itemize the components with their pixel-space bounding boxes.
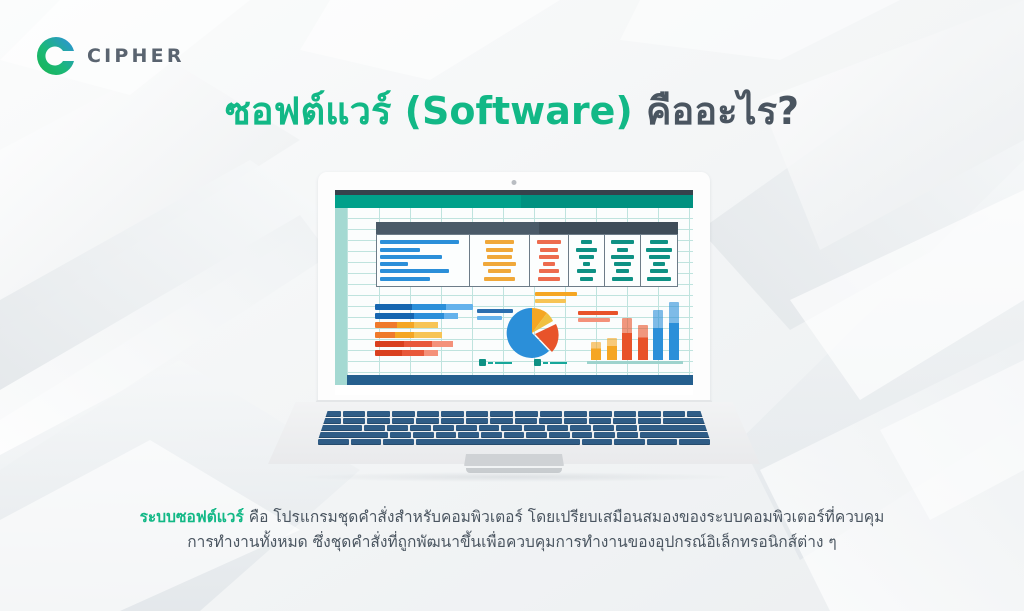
keyboard-key[interactable] xyxy=(663,411,686,417)
bar xyxy=(375,313,473,319)
screen-statusbar xyxy=(347,375,693,385)
keyboard-key[interactable] xyxy=(582,439,613,445)
keyboard-row xyxy=(316,411,712,417)
table-cell xyxy=(646,248,672,252)
bar-segment xyxy=(375,313,414,319)
keyboard-key[interactable] xyxy=(466,411,489,417)
bar-segment xyxy=(424,350,438,356)
keyboard-key[interactable] xyxy=(364,425,385,431)
table-cell xyxy=(614,262,631,266)
table-cell xyxy=(616,269,630,273)
table-cell xyxy=(484,277,515,281)
table-cell xyxy=(611,255,633,259)
table-cell xyxy=(581,240,592,244)
keyboard-key[interactable] xyxy=(392,418,415,424)
laptop-screen xyxy=(335,190,693,395)
keyboard-key[interactable] xyxy=(387,425,408,431)
bar xyxy=(375,350,473,356)
keyboard-row xyxy=(316,425,712,431)
keyboard-key[interactable] xyxy=(638,418,661,424)
cipher-c-logo-icon xyxy=(34,34,78,78)
table-header-row xyxy=(376,222,678,234)
table-cell xyxy=(653,262,664,266)
table-cell xyxy=(483,262,516,266)
bar-segment xyxy=(375,322,397,328)
legend-line-darkblue xyxy=(477,309,513,313)
keyboard-key[interactable] xyxy=(570,425,591,431)
table-cell xyxy=(488,269,510,273)
bar-segment xyxy=(414,332,441,338)
bar xyxy=(622,318,632,360)
table-column xyxy=(530,235,569,286)
table-cell xyxy=(540,248,558,252)
keyboard-key[interactable] xyxy=(639,425,710,431)
bar-segment xyxy=(375,304,412,310)
table-cell xyxy=(580,277,593,281)
table-cell xyxy=(486,248,514,252)
keyboard-key[interactable] xyxy=(479,425,500,431)
table-cell xyxy=(380,248,420,252)
horizontal-bar-chart xyxy=(375,304,473,356)
keyboard-key[interactable] xyxy=(481,432,502,438)
keyboard-key[interactable] xyxy=(614,411,637,417)
page-title-green: ซอฟต์แวร์ (Software) xyxy=(225,89,646,133)
table-cell xyxy=(577,269,596,273)
keyboard-key[interactable] xyxy=(416,439,580,445)
keyboard-key[interactable] xyxy=(564,411,587,417)
table-cell xyxy=(487,255,512,259)
table-cell xyxy=(543,262,556,266)
table-column xyxy=(605,235,641,286)
table-cell xyxy=(380,269,449,273)
keyboard-key[interactable] xyxy=(441,411,464,417)
keyboard-key[interactable] xyxy=(663,418,710,424)
bar-segment xyxy=(375,350,402,356)
keyboard-key[interactable] xyxy=(614,439,645,445)
keyboard-key[interactable] xyxy=(367,418,390,424)
keyboard-key[interactable] xyxy=(515,418,538,424)
keyboard-key[interactable] xyxy=(416,418,439,424)
keyboard-key[interactable] xyxy=(501,425,522,431)
bar-segment xyxy=(395,332,415,338)
table-cell xyxy=(612,277,632,281)
keyboard-row xyxy=(316,432,712,438)
table-cell xyxy=(576,248,597,252)
bar xyxy=(375,332,473,338)
legend-line-orange xyxy=(535,292,577,296)
keyboard-key[interactable] xyxy=(549,432,570,438)
vertical-bar-chart xyxy=(587,292,683,364)
table-cell xyxy=(647,277,671,281)
legend-label-bar xyxy=(495,362,512,364)
bar xyxy=(669,302,679,360)
table-body xyxy=(376,234,678,287)
chart-baseline xyxy=(587,361,683,364)
bar xyxy=(607,338,617,360)
caption-line1: คือ โปรแกรมชุดคำสั่งสำหรับคอมพิวเตอร์ โด… xyxy=(244,508,885,526)
keyboard-key[interactable] xyxy=(367,411,390,417)
bar-segment xyxy=(402,350,424,356)
legend-dash-icon xyxy=(488,362,493,364)
keyboard-key[interactable] xyxy=(410,425,431,431)
row-header-strip xyxy=(335,208,347,385)
keyboard-key[interactable] xyxy=(351,439,382,445)
table-column xyxy=(569,235,605,286)
keyboard-key[interactable] xyxy=(613,418,636,424)
keyboard-key[interactable] xyxy=(617,432,638,438)
table-cell xyxy=(485,240,514,244)
legend-line-lightblue xyxy=(477,316,502,320)
keyboard-key[interactable] xyxy=(413,432,434,438)
table-cell xyxy=(650,269,667,273)
keyboard-key[interactable] xyxy=(343,418,366,424)
chart-legend xyxy=(479,359,567,366)
table-cell xyxy=(380,240,459,244)
keyboard-key[interactable] xyxy=(490,418,513,424)
keyboard-key[interactable] xyxy=(589,411,612,417)
legend-swatch-icon xyxy=(479,359,486,366)
keyboard-key[interactable] xyxy=(593,425,614,431)
keyboard-row xyxy=(316,439,712,445)
bar-segment xyxy=(412,304,445,310)
laptop-shadow xyxy=(299,472,729,482)
table-cell xyxy=(380,262,408,266)
keyboard-key[interactable] xyxy=(433,425,454,431)
webcam-dot-icon xyxy=(512,180,517,185)
legend-item xyxy=(479,359,512,366)
keyboard-key[interactable] xyxy=(640,432,710,438)
table-cell xyxy=(538,277,560,281)
keyboard-key[interactable] xyxy=(572,432,593,438)
keyboard-key[interactable] xyxy=(515,411,538,417)
caption-highlight: ระบบซอฟต์แวร์ xyxy=(140,508,244,526)
bar-segment xyxy=(414,313,443,319)
bar xyxy=(638,325,648,360)
table-cell xyxy=(617,248,629,252)
bar-segment xyxy=(404,341,431,347)
brand-name: CIPHER xyxy=(87,47,185,66)
table-cell xyxy=(380,277,430,281)
keyboard-key[interactable] xyxy=(390,432,411,438)
keyboard-key[interactable] xyxy=(616,425,637,431)
table-column xyxy=(377,235,470,286)
keyboard-key[interactable] xyxy=(383,439,414,445)
keyboard-key[interactable] xyxy=(589,418,612,424)
keyboard-key[interactable] xyxy=(417,411,440,417)
screen-toolbar xyxy=(335,195,693,208)
table-cell xyxy=(539,269,559,273)
legend-label-bar xyxy=(550,362,567,364)
caption-line2: การทำงานทั้งหมด ซึ่งชุดคำสั่งที่ถูกพัฒนา… xyxy=(187,533,837,551)
keyboard-key[interactable] xyxy=(504,432,525,438)
keyboard-key[interactable] xyxy=(441,418,464,424)
keyboard-key[interactable] xyxy=(539,418,562,424)
laptop-trackpad[interactable] xyxy=(464,454,564,466)
caption-text: ระบบซอฟต์แวร์ คือ โปรแกรมชุดคำสั่งสำหรับ… xyxy=(0,505,1024,555)
keyboard-key[interactable] xyxy=(490,411,513,417)
table-column xyxy=(470,235,530,286)
keyboard-key[interactable] xyxy=(458,432,479,438)
legend-swatch-icon xyxy=(534,359,541,366)
bar xyxy=(375,304,473,310)
keyboard-key[interactable] xyxy=(318,439,349,445)
table-cell xyxy=(539,255,558,259)
keyboard-key[interactable] xyxy=(547,425,568,431)
keyboard-key[interactable] xyxy=(679,439,710,445)
table-column xyxy=(641,235,677,286)
legend-line-yellow xyxy=(535,299,566,303)
table-cell xyxy=(380,255,442,259)
bar xyxy=(653,310,663,360)
bar-segment xyxy=(375,332,395,338)
keyboard-row xyxy=(316,418,712,424)
bar-segment xyxy=(432,341,454,347)
bar xyxy=(591,342,601,360)
keyboard-key[interactable] xyxy=(318,432,388,438)
keyboard-key[interactable] xyxy=(540,411,563,417)
keyboard-key[interactable] xyxy=(466,418,489,424)
bar-segment xyxy=(375,341,404,347)
keyboard-key[interactable] xyxy=(456,425,477,431)
keyboard-key[interactable] xyxy=(524,425,545,431)
pie-legend-top xyxy=(535,292,577,306)
keyboard-key[interactable] xyxy=(638,411,661,417)
keyboard-key[interactable] xyxy=(526,432,547,438)
laptop-keyboard[interactable] xyxy=(316,410,712,446)
bar xyxy=(375,322,473,328)
laptop-lid xyxy=(318,172,710,409)
table-cell xyxy=(611,240,634,244)
table-cell xyxy=(583,262,589,266)
bar-segment xyxy=(444,313,459,319)
slide-canvas: CIPHER ซอฟต์แวร์ (Software) คืออะไร? xyxy=(0,0,1024,611)
keyboard-key[interactable] xyxy=(564,418,587,424)
bar xyxy=(375,341,473,347)
legend-dash-icon xyxy=(543,362,548,364)
laptop-illustration xyxy=(268,172,760,490)
bar-segment xyxy=(397,322,415,328)
data-table xyxy=(376,222,678,287)
keyboard-key[interactable] xyxy=(436,432,457,438)
brand-logo[interactable]: CIPHER xyxy=(34,34,185,78)
bar-segment xyxy=(446,304,473,310)
table-cell xyxy=(650,240,669,244)
keyboard-key[interactable] xyxy=(343,411,366,417)
table-cell xyxy=(537,240,562,244)
page-title: ซอฟต์แวร์ (Software) คืออะไร? xyxy=(0,88,1024,136)
spreadsheet-grid-area xyxy=(335,208,693,385)
keyboard-key[interactable] xyxy=(594,432,615,438)
page-title-dark: คืออะไร? xyxy=(646,89,799,133)
bar-segment xyxy=(414,322,438,328)
pie-legend-left xyxy=(477,309,513,323)
table-cell xyxy=(579,255,594,259)
table-cell xyxy=(649,255,670,259)
keyboard-key[interactable] xyxy=(647,439,678,445)
legend-item xyxy=(534,359,567,366)
keyboard-key[interactable] xyxy=(318,425,362,431)
keyboard-key[interactable] xyxy=(392,411,415,417)
